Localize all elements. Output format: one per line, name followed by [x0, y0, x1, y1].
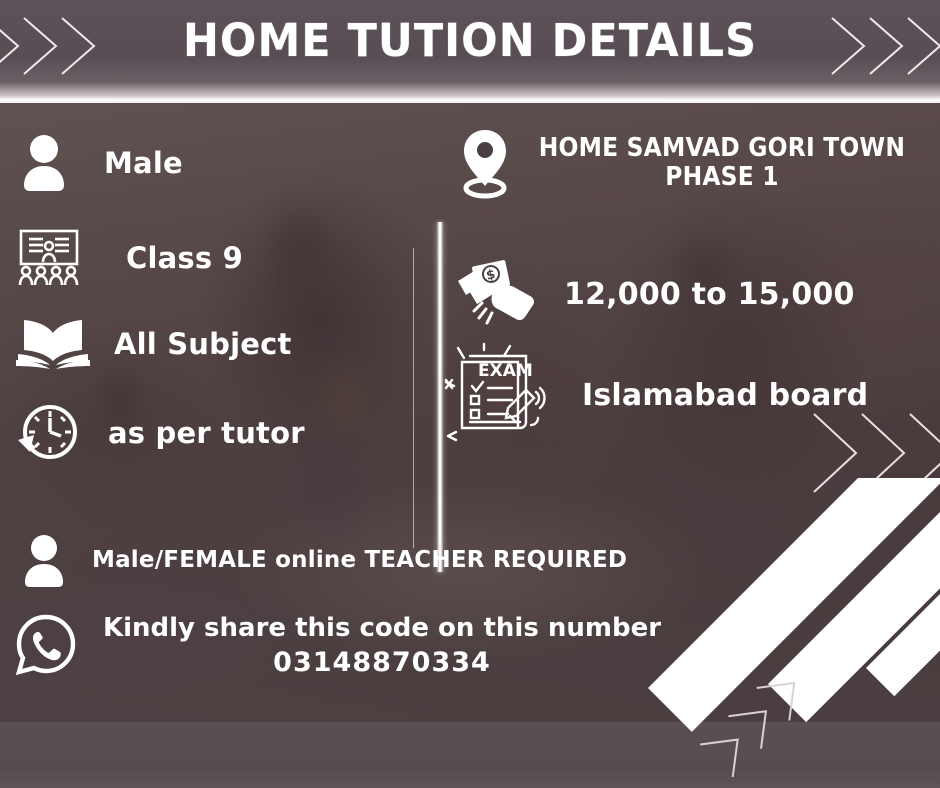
exam-paper-icon: EXAM [440, 340, 556, 452]
corner-ribbons-decoration [520, 478, 940, 788]
detail-row-subject: All Subject [14, 316, 344, 372]
location-pin-icon [455, 128, 515, 204]
detail-row-fee: $ 12,000 to 15,000 [452, 255, 922, 335]
detail-row-class: Class 9 [14, 228, 344, 288]
detail-label-subject: All Subject [114, 328, 292, 360]
header-banner: HOME TUTION DETAILS [0, 0, 940, 103]
open-book-icon [14, 316, 92, 372]
chevrons-right-icon [828, 14, 940, 78]
detail-row-gender: Male [14, 132, 344, 194]
svg-text:EXAM: EXAM [478, 361, 533, 381]
detail-row-timing: as per tutor [14, 400, 344, 466]
person-icon [14, 132, 74, 194]
divider-thin [413, 248, 414, 548]
money-hand-icon: $ [452, 255, 542, 335]
poster: HOME TUTION DETAILS Male [0, 0, 940, 788]
person-icon [14, 532, 74, 590]
detail-label-class: Class 9 [126, 242, 243, 274]
clock-icon [14, 400, 84, 466]
classroom-icon [14, 228, 84, 288]
page-title: HOME TUTION DETAILS [0, 14, 940, 67]
detail-label-location: HOME SAMVAD GORI TOWN PHASE 1 [519, 134, 925, 192]
detail-label-fee: 12,000 to 15,000 [564, 278, 855, 312]
detail-label-timing: as per tutor [108, 417, 305, 449]
detail-row-location: HOME SAMVAD GORI TOWN PHASE 1 [455, 128, 925, 204]
detail-label-gender: Male [104, 147, 183, 179]
whatsapp-icon[interactable] [14, 612, 78, 678]
detail-label-board: Islamabad board [582, 379, 868, 413]
